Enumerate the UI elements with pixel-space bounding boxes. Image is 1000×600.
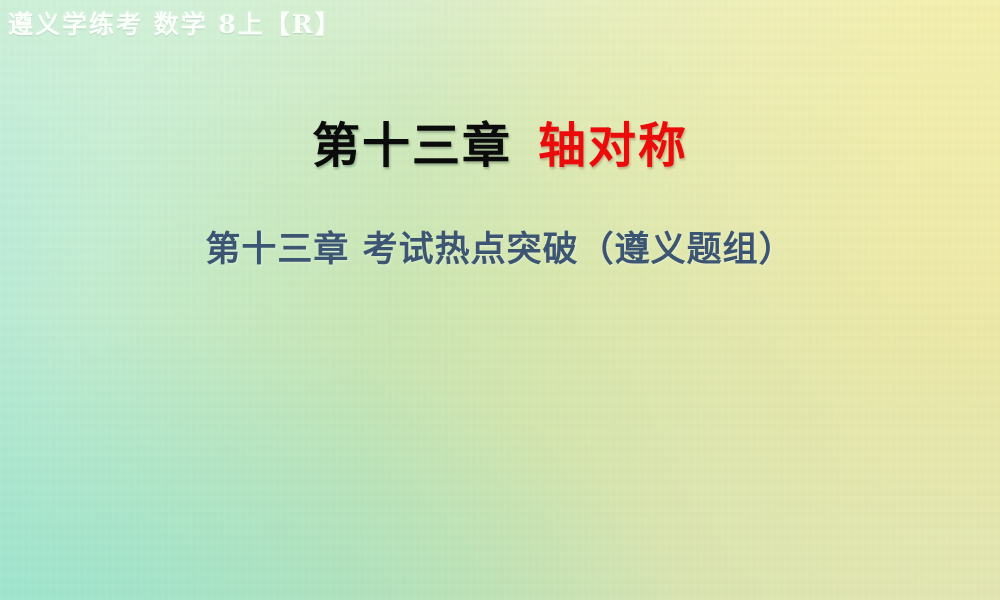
title-topic-label: 轴对称 [538,118,688,174]
slide-body-placeholder [60,300,940,580]
title-chapter-label: 第十三章 [312,118,512,174]
slide-content: 遵义学练考 数学 8上【R】 第十三章轴对称 第十三章 考试热点突破（遵义题组） [0,0,1000,600]
series-watermark-label: 遵义学练考 数学 8上【R】 [8,12,342,37]
slide-canvas: 遵义学练考 数学 8上【R】 第十三章轴对称 第十三章 考试热点突破（遵义题组） [0,0,1000,600]
slide-title: 第十三章轴对称 [0,118,1000,175]
slide-subtitle: 第十三章 考试热点突破（遵义题组） [0,229,1000,271]
